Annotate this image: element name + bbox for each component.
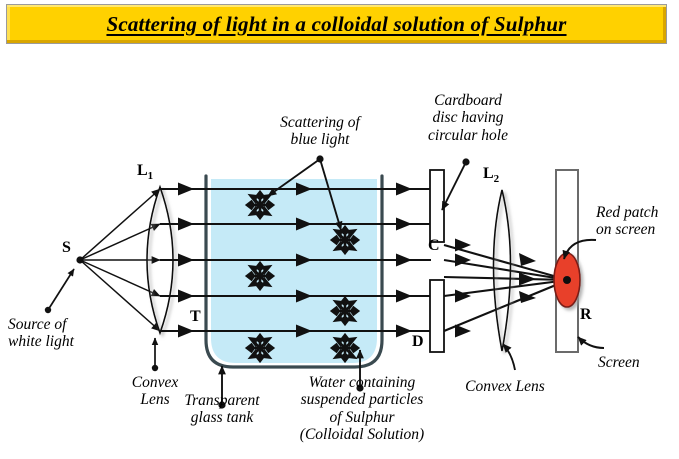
scattering-particle (332, 227, 358, 253)
scattering-particle (332, 335, 358, 361)
leader-source-of-white-light (45, 269, 74, 313)
leader-screen (578, 337, 604, 348)
annotation-screen: Screen (598, 354, 668, 371)
label-point-l2: L2 (483, 165, 499, 186)
annotation-cardboard-disc: Cardboard disc having circular hole (410, 92, 526, 144)
page-title: Scattering of light in a colloidal solut… (7, 5, 666, 43)
scattering-particle (247, 335, 273, 361)
annotation-convex-lens-right: Convex Lens (450, 378, 560, 395)
label-point-l1: L1 (137, 162, 153, 183)
annotation-source-of-white-light: Source of white light (8, 316, 74, 351)
label-point-t: T (190, 308, 201, 326)
label-point-d: D (412, 333, 424, 351)
red-patch-shape (554, 253, 580, 307)
leader-cardboard-disc (442, 158, 470, 210)
cardboard-disc-shape (430, 170, 444, 352)
leader-convex-lens-right (503, 344, 515, 370)
title-banner: Scattering of light in a colloidal solut… (6, 4, 667, 44)
label-point-s: S (62, 239, 71, 257)
scattering-particle (247, 263, 273, 289)
annotation-red-patch-on-screen: Red patch on screen (596, 204, 676, 239)
annotation-transparent-glass-tank: Transparent glass tank (164, 392, 280, 427)
converging-ray-arrowheads (455, 239, 536, 338)
optics-ray-diagram: S L1 T C D L2 R Source of white light Co… (0, 48, 679, 459)
leader-convex-lens-left (152, 338, 158, 371)
annotation-scattering-of-blue-light: Scattering of blue light (260, 114, 380, 149)
annotation-water-suspended-sulphur: Water containing suspended particles of … (288, 374, 436, 443)
label-point-c: C (428, 237, 440, 255)
scattering-particle (332, 298, 358, 324)
label-point-r: R (580, 306, 592, 324)
